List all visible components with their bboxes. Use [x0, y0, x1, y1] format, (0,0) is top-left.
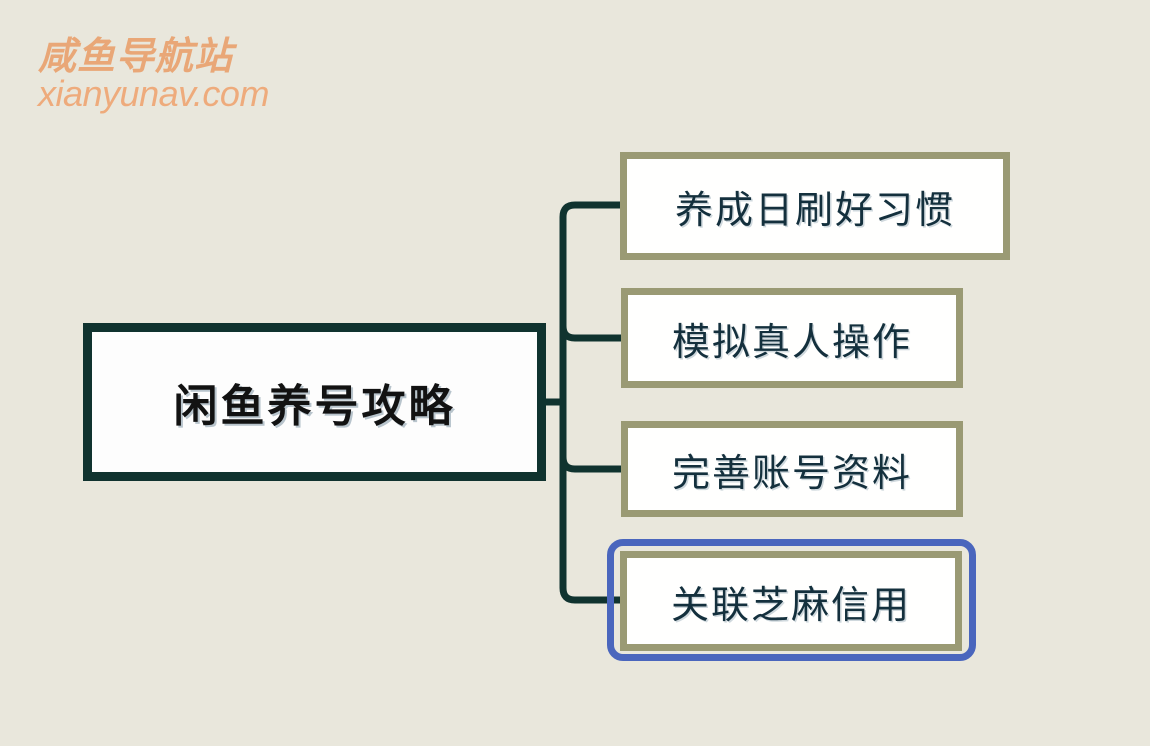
root-node-label: 闲鱼养号攻略 [174, 370, 456, 434]
connector-branch-2 [563, 457, 621, 469]
watermark: 咸鱼导航站 xianyunav.com [38, 36, 269, 113]
child-node-label-2: 完善账号资料 [672, 442, 912, 497]
mindmap-child-node-3-selected[interactable]: 关联芝麻信用 [620, 551, 962, 651]
child-node-label-0: 养成日刷好习惯 [675, 179, 955, 234]
mindmap-child-node-2[interactable]: 完善账号资料 [621, 421, 963, 517]
mindmap-canvas: 咸鱼导航站 xianyunav.com 闲鱼养号攻略 养成日刷好习惯 模拟真人操… [0, 0, 1150, 746]
child-node-label-3: 关联芝麻信用 [671, 574, 911, 629]
mindmap-child-node-1[interactable]: 模拟真人操作 [621, 288, 963, 388]
connector-branch-1 [563, 326, 621, 338]
child-node-label-1: 模拟真人操作 [672, 311, 912, 366]
watermark-url-text: xianyunav.com [38, 75, 269, 113]
connector-branch-0 [563, 205, 620, 217]
mindmap-child-node-0[interactable]: 养成日刷好习惯 [620, 152, 1010, 260]
watermark-chinese-text: 咸鱼导航站 [38, 36, 269, 77]
connector-branch-3 [563, 588, 620, 600]
mindmap-root-node[interactable]: 闲鱼养号攻略 [83, 323, 546, 481]
